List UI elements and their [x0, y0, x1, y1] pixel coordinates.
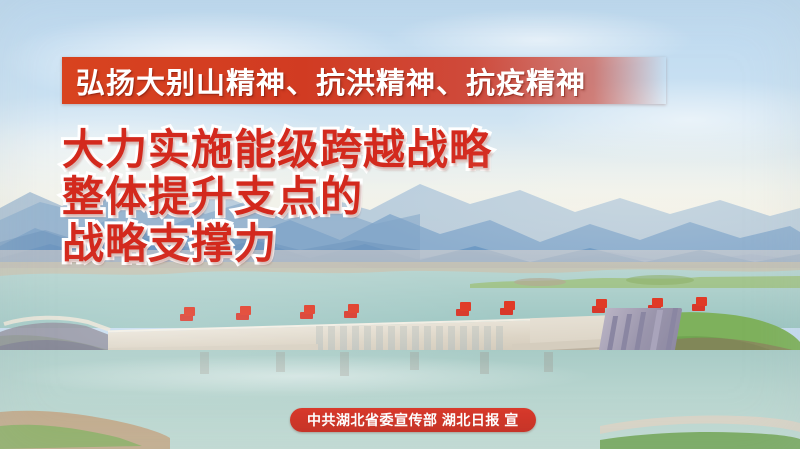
poster-canvas: 弘扬大别山精神、抗洪精神、抗疫精神 大力实施能级跨越战略 整体提升支点的 战略支… [0, 0, 800, 449]
headline-line-2: 整体提升支点的 [62, 173, 492, 220]
main-headline: 大力实施能级跨越战略 整体提升支点的 战略支撑力 [62, 126, 492, 267]
riverside-road-bridge [600, 400, 800, 449]
top-slogan-banner: 弘扬大别山精神、抗洪精神、抗疫精神 [62, 57, 666, 104]
publisher-credit-badge: 中共湖北省委宣传部 湖北日报 宣 [290, 408, 536, 432]
dam-reflection [180, 352, 600, 382]
publisher-credit-text: 中共湖北省委宣传部 湖北日报 宣 [307, 410, 519, 430]
headline-line-3: 战略支撑力 [62, 220, 492, 267]
top-slogan-text: 弘扬大别山精神、抗洪精神、抗疫精神 [76, 60, 586, 102]
bottom-left-terraces [0, 404, 170, 449]
headline-line-1: 大力实施能级跨越战略 [62, 126, 492, 173]
